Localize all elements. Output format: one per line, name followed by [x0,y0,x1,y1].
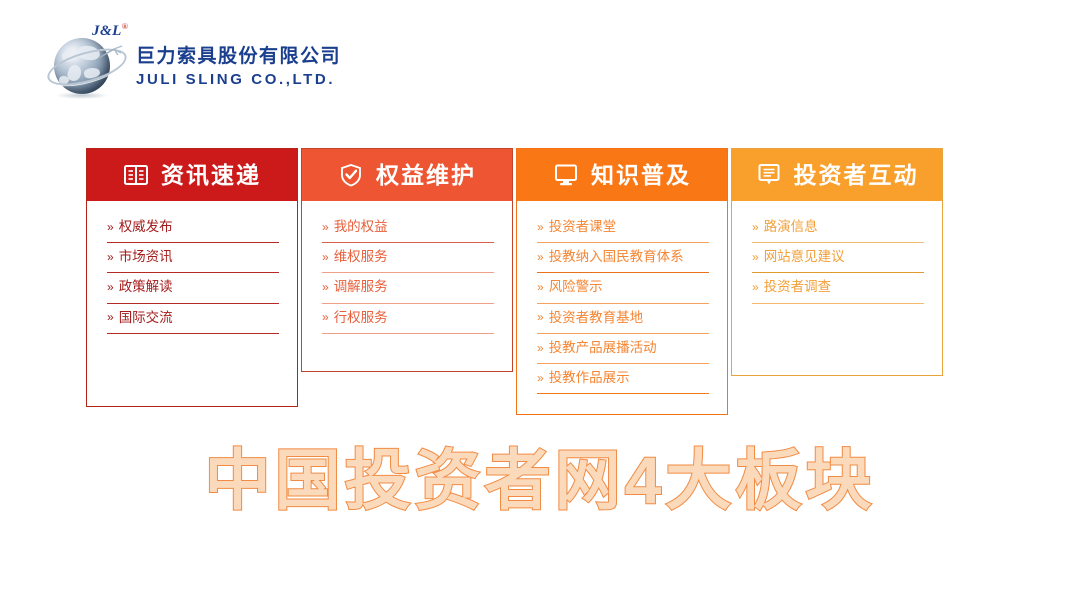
list-item[interactable]: »行权服务 [322,304,494,334]
card-link-list: »路演信息 »网站意见建议 »投资者调查 [732,201,942,304]
chevron-right-icon: » [107,310,113,324]
list-item[interactable]: »权威发布 [107,213,279,243]
speech-bubble-icon [756,162,782,188]
monitor-icon [553,162,579,188]
list-item[interactable]: »我的权益 [322,213,494,243]
chevron-right-icon: » [107,250,113,264]
list-item[interactable]: »投教作品展示 [537,364,709,394]
list-item-label: 投资者课堂 [549,219,617,235]
card-header: 权益维护 [302,149,512,201]
list-item-label: 网站意见建议 [764,249,845,265]
list-item-label: 行权服务 [334,310,388,326]
list-item-label: 国际交流 [119,310,173,326]
chevron-right-icon: » [322,310,328,324]
chevron-right-icon: » [537,220,543,234]
list-item-label: 市场资讯 [119,249,173,265]
list-item-label: 投教纳入国民教育体系 [549,249,684,265]
card-zhishi-puji[interactable]: 知识普及 »投资者课堂 »投教纳入国民教育体系 »风险警示 »投资者教育基地 »… [516,148,728,415]
list-item-label: 路演信息 [764,219,818,235]
list-item-label: 我的权益 [334,219,388,235]
list-item-label: 投教产品展播活动 [549,340,657,356]
chevron-right-icon: » [752,220,758,234]
card-touzizhe-hudong[interactable]: 投资者互动 »路演信息 »网站意见建议 »投资者调查 [731,148,943,376]
chevron-right-icon: » [537,341,543,355]
shield-check-icon [338,162,364,188]
card-header: 投资者互动 [732,149,942,201]
card-title: 知识普及 [591,164,691,187]
list-item-label: 政策解读 [119,279,173,295]
chevron-right-icon: » [537,310,543,324]
list-item[interactable]: »市场资讯 [107,243,279,273]
chevron-right-icon: » [322,280,328,294]
chevron-right-icon: » [752,280,758,294]
card-header: 资讯速递 [87,149,297,201]
card-link-list: »权威发布 »市场资讯 »政策解读 »国际交流 [87,201,297,334]
chevron-right-icon: » [322,220,328,234]
chevron-right-icon: » [537,280,543,294]
page-title: 中国投资者网4大板块 [0,444,1080,517]
card-zixun-sudi[interactable]: 资讯速递 »权威发布 »市场资讯 »政策解读 »国际交流 [86,148,298,407]
list-item[interactable]: »政策解读 [107,273,279,303]
list-item[interactable]: »网站意见建议 [752,243,924,273]
list-item-label: 投资者教育基地 [549,310,644,326]
chevron-right-icon: » [537,371,543,385]
chevron-right-icon: » [537,250,543,264]
list-item[interactable]: »投教产品展播活动 [537,334,709,364]
list-item[interactable]: »投资者课堂 [537,213,709,243]
list-item[interactable]: »国际交流 [107,304,279,334]
open-book-icon [123,162,149,188]
list-item[interactable]: »调解服务 [322,273,494,303]
list-item-label: 权威发布 [119,219,173,235]
card-link-list: »我的权益 »维权服务 »调解服务 »行权服务 [302,201,512,334]
card-title: 投资者互动 [794,164,919,187]
list-item[interactable]: »路演信息 [752,213,924,243]
card-title: 权益维护 [376,164,476,187]
list-item-label: 维权服务 [334,249,388,265]
list-item[interactable]: »投教纳入国民教育体系 [537,243,709,273]
list-item-label: 风险警示 [549,279,603,295]
chevron-right-icon: » [752,250,758,264]
list-item[interactable]: »投资者教育基地 [537,304,709,334]
list-item[interactable]: »风险警示 [537,273,709,303]
list-item-label: 投资者调查 [764,279,832,295]
chevron-right-icon: » [322,250,328,264]
card-link-list: »投资者课堂 »投教纳入国民教育体系 »风险警示 »投资者教育基地 »投教产品展… [517,201,727,394]
card-header: 知识普及 [517,149,727,201]
chevron-right-icon: » [107,220,113,234]
list-item[interactable]: »维权服务 [322,243,494,273]
card-title: 资讯速递 [161,164,261,187]
list-item-label: 投教作品展示 [549,370,630,386]
list-item[interactable]: »投资者调查 [752,273,924,303]
chevron-right-icon: » [107,280,113,294]
list-item-label: 调解服务 [334,279,388,295]
card-quanyi-weihu[interactable]: 权益维护 »我的权益 »维权服务 »调解服务 »行权服务 [301,148,513,372]
